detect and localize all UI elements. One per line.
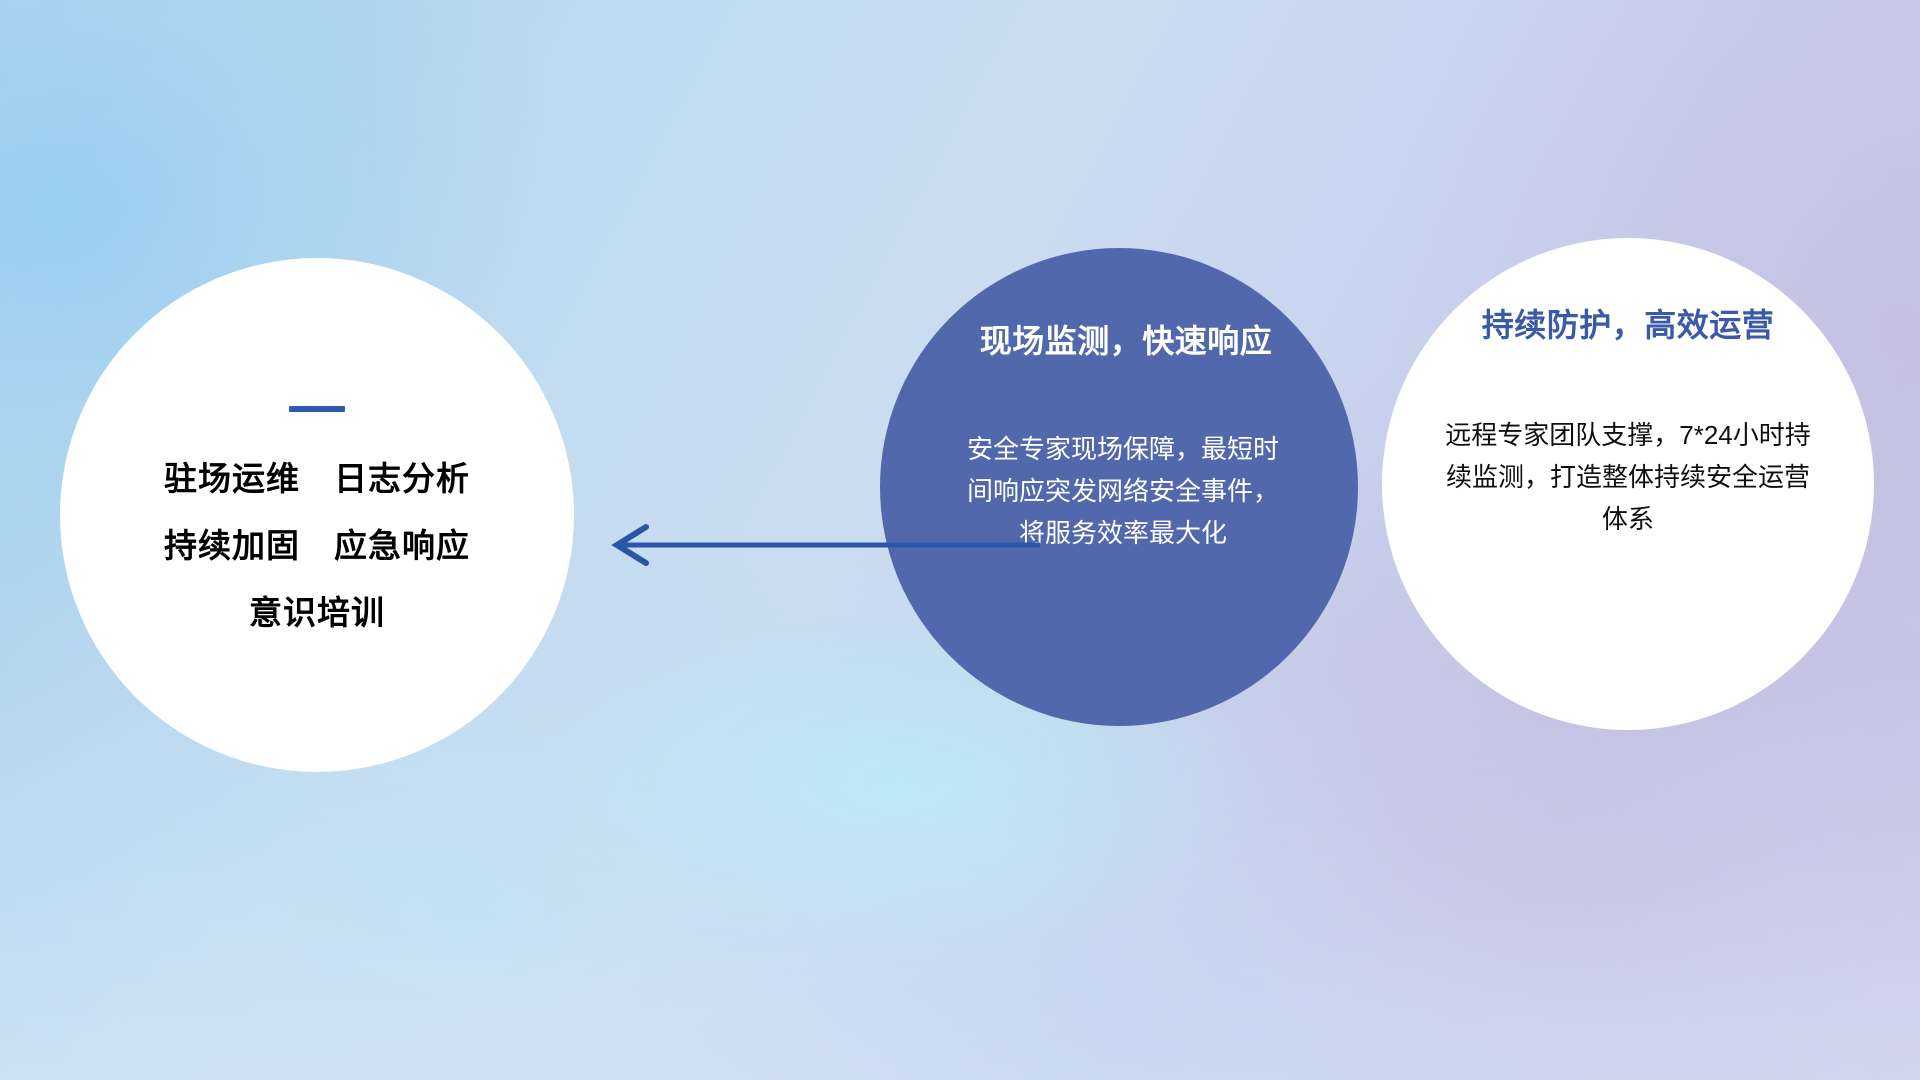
capability-line-3: 意识培训 xyxy=(249,594,385,632)
capability-line-1: 驻场运维 日志分析 xyxy=(164,460,470,498)
continuous-protection-content: 持续防护，高效运营 远程专家团队支撑，7*24小时持续监测，打造整体持续安全运营… xyxy=(1382,238,1874,730)
continuous-protection-body: 远程专家团队支撑，7*24小时持续监测，打造整体持续安全运营体系 xyxy=(1442,414,1814,540)
capability-line-2: 持续加固 应急响应 xyxy=(164,527,470,565)
dash-divider-icon xyxy=(289,406,345,412)
onsite-monitoring-title: 现场监测，快速响应 xyxy=(980,316,1273,362)
capability-circle-content: 驻场运维 日志分析 持续加固 应急响应 意识培训 xyxy=(60,258,574,772)
flow-arrow xyxy=(600,518,1040,572)
continuous-protection-circle[interactable]: 持续防护，高效运营 远程专家团队支撑，7*24小时持续监测，打造整体持续安全运营… xyxy=(1382,238,1874,730)
onsite-monitoring-content: 现场监测，快速响应 安全专家现场保障，最短时间响应突发网络安全事件，将服务效率最… xyxy=(880,248,1358,726)
capability-circle[interactable]: 驻场运维 日志分析 持续加固 应急响应 意识培训 xyxy=(60,258,574,772)
continuous-protection-title: 持续防护，高效运营 xyxy=(1482,300,1775,346)
onsite-monitoring-circle[interactable]: 现场监测，快速响应 安全专家现场保障，最短时间响应突发网络安全事件，将服务效率最… xyxy=(880,248,1358,726)
slide-canvas: 驻场运维 日志分析 持续加固 应急响应 意识培训 现场监测，快速响应 安全专家现… xyxy=(0,0,1920,1080)
